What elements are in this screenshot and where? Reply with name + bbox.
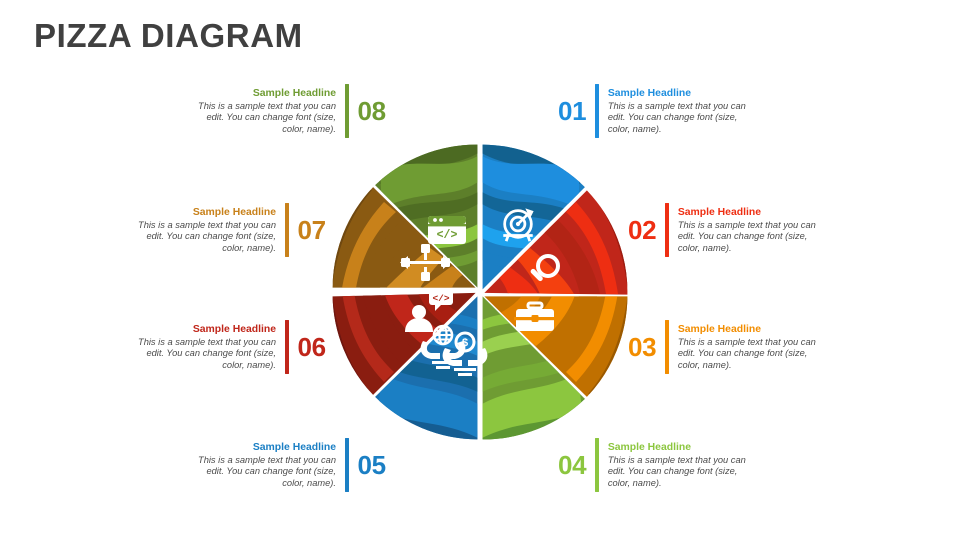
callout-headline-08: Sample Headline (253, 87, 336, 101)
slide-canvas: PIZZA DIAGRAM (0, 0, 960, 540)
callout-number-01: 01 (558, 98, 595, 124)
callout-04[interactable]: 04 Sample Headline This is a sample text… (558, 438, 758, 492)
callout-headline-07: Sample Headline (193, 206, 276, 220)
callout-08[interactable]: Sample Headline This is a sample text th… (186, 84, 386, 138)
callout-body-05: This is a sample text that you can edit.… (186, 455, 336, 490)
page-title: PIZZA DIAGRAM (34, 17, 303, 55)
callout-02[interactable]: 02 Sample Headline This is a sample text… (628, 203, 828, 257)
callout-headline-01: Sample Headline (608, 87, 691, 101)
callout-body-03: This is a sample text that you can edit.… (678, 337, 828, 372)
callout-number-02: 02 (628, 217, 665, 243)
callout-number-08: 08 (349, 98, 386, 124)
svg-text:</>: </> (437, 229, 458, 242)
callout-body-02: This is a sample text that you can edit.… (678, 220, 828, 255)
callout-number-03: 03 (628, 334, 665, 360)
callout-body-06: This is a sample text that you can edit.… (126, 337, 276, 372)
callout-number-07: 07 (289, 217, 326, 243)
callout-headline-03: Sample Headline (678, 323, 761, 337)
callout-01[interactable]: 01 Sample Headline This is a sample text… (558, 84, 758, 138)
callout-headline-02: Sample Headline (678, 206, 761, 220)
callout-05[interactable]: Sample Headline This is a sample text th… (186, 438, 386, 492)
callout-headline-06: Sample Headline (193, 323, 276, 337)
callout-body-08: This is a sample text that you can edit.… (186, 101, 336, 136)
callout-03[interactable]: 03 Sample Headline This is a sample text… (628, 320, 828, 374)
callout-number-06: 06 (289, 334, 326, 360)
callout-number-04: 04 (558, 452, 595, 478)
browser-code-icon: </> (428, 216, 466, 244)
callout-headline-05: Sample Headline (253, 441, 336, 455)
callout-headline-04: Sample Headline (608, 441, 691, 455)
callout-body-04: This is a sample text that you can edit.… (608, 455, 758, 490)
callout-06[interactable]: Sample Headline This is a sample text th… (126, 320, 326, 374)
callout-number-05: 05 (349, 452, 386, 478)
pizza-diagram: $ </> (330, 142, 630, 442)
callout-07[interactable]: Sample Headline This is a sample text th… (126, 203, 326, 257)
callout-body-01: This is a sample text that you can edit.… (608, 101, 758, 136)
callout-body-07: This is a sample text that you can edit.… (126, 220, 276, 255)
svg-text:</>: </> (432, 293, 449, 304)
